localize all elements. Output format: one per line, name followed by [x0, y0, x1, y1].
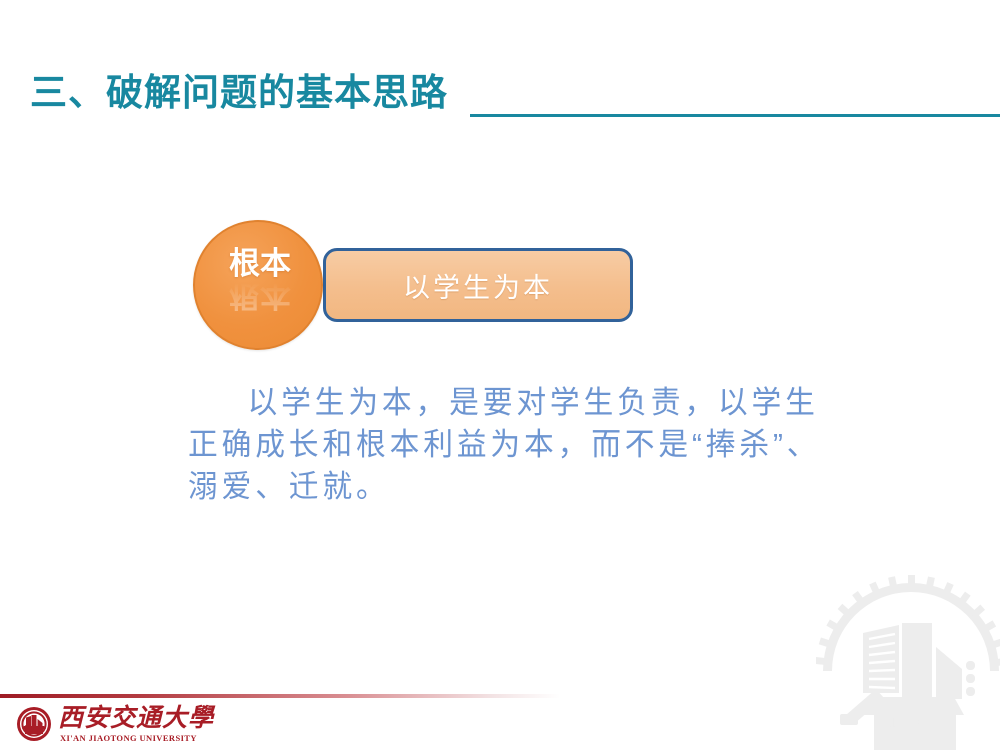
title-row: 三、破解问题的基本思路 [0, 70, 1000, 126]
badge-circle[interactable]: 根本 根本 [193, 220, 323, 350]
university-emblem-watermark: 1896 [816, 575, 1000, 750]
title-underline-rule [470, 114, 1000, 117]
badge-text-wrap: 根本 根本 [195, 248, 325, 311]
university-logo: 西安交通大學 XI'AN JIAOTONG UNIVERSITY [16, 704, 214, 744]
slide-canvas: 1896 三、破解问题的基本思路 以学生为本 根本 根本 以学生为本，是要对学生… [0, 0, 1000, 750]
callout-box-label: 以学生为本 [403, 266, 553, 305]
university-name-cn: 西安交通大學 [58, 706, 214, 732]
page-title: 三、破解问题的基本思路 [30, 70, 448, 116]
badge-label: 根本 [195, 248, 325, 279]
badge-label-reflection: 根本 [195, 280, 325, 311]
callout-box[interactable]: 以学生为本 [323, 248, 633, 322]
footer-divider [0, 694, 560, 698]
body-paragraph: 以学生为本，是要对学生负责，以学生正确成长和根本利益为本，而不是“捧杀”、溺爱、… [188, 382, 833, 508]
university-gear-logo-icon [16, 706, 52, 742]
university-name-en: XI'AN JIAOTONG UNIVERSITY [60, 733, 214, 743]
university-logo-words: 西安交通大學 XI'AN JIAOTONG UNIVERSITY [58, 706, 214, 743]
watermark-year: 1896 [888, 715, 925, 732]
